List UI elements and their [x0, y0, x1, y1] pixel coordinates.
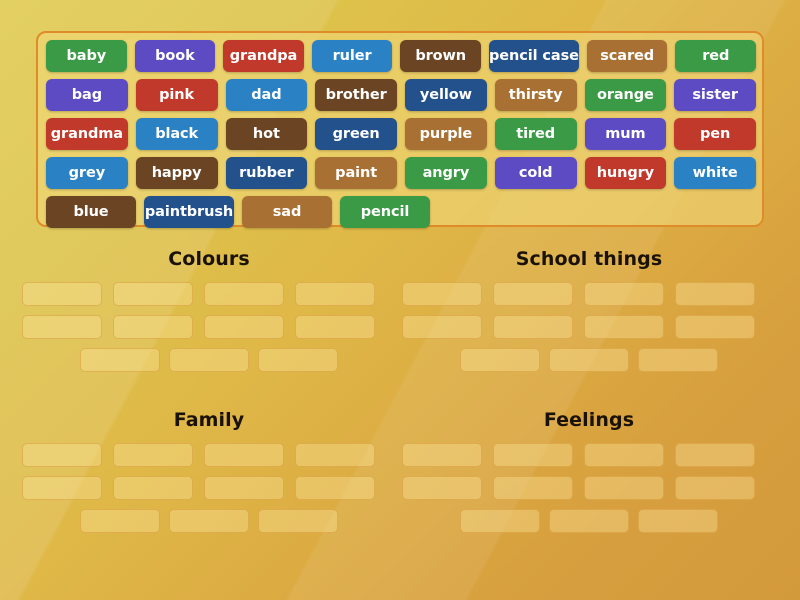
word-tile[interactable]: book [135, 40, 216, 72]
word-bank-row: grandmablackhotgreenpurpletiredmumpen [44, 118, 756, 150]
word-tile[interactable]: hungry [585, 157, 667, 189]
word-tile[interactable]: sister [674, 79, 756, 111]
word-tile[interactable]: paint [315, 157, 397, 189]
category-zone-colours: Colours [22, 248, 396, 372]
category-zone-family: Family [22, 409, 396, 533]
drop-slot-row [22, 282, 396, 306]
drop-slot[interactable] [169, 348, 249, 372]
word-tile[interactable]: brown [400, 40, 481, 72]
word-tile[interactable]: grandma [46, 118, 128, 150]
drop-slot-area-colours [22, 282, 396, 372]
drop-slot[interactable] [113, 476, 193, 500]
drop-slot[interactable] [258, 509, 338, 533]
drop-slot[interactable] [80, 509, 160, 533]
drop-slot[interactable] [295, 315, 375, 339]
drop-slot[interactable] [549, 509, 629, 533]
drop-slot[interactable] [80, 348, 160, 372]
drop-slot[interactable] [638, 509, 718, 533]
drop-slot-row [22, 476, 396, 500]
word-tile[interactable]: purple [405, 118, 487, 150]
drop-slot-row [22, 348, 396, 372]
category-title-feelings: Feelings [402, 409, 776, 431]
word-tile[interactable]: red [675, 40, 756, 72]
word-tile[interactable]: angry [405, 157, 487, 189]
drop-slot[interactable] [460, 509, 540, 533]
word-tile[interactable]: pencil [340, 196, 430, 228]
category-title-family: Family [22, 409, 396, 431]
drop-slot-row [402, 282, 776, 306]
drop-slot[interactable] [493, 315, 573, 339]
word-tile[interactable]: pen [674, 118, 756, 150]
drop-slot[interactable] [584, 476, 664, 500]
drop-slot[interactable] [402, 443, 482, 467]
drop-slot[interactable] [584, 315, 664, 339]
drop-slot-row [402, 348, 776, 372]
category-title-school-things: School things [402, 248, 776, 270]
drop-slot[interactable] [295, 282, 375, 306]
word-tile[interactable]: mum [585, 118, 667, 150]
drop-slot[interactable] [204, 282, 284, 306]
drop-slot[interactable] [22, 315, 102, 339]
drop-slot[interactable] [22, 443, 102, 467]
word-bank-row: babybookgrandparulerbrownpencil casescar… [44, 40, 756, 72]
drop-slot[interactable] [493, 282, 573, 306]
drop-slot-area-school-things [402, 282, 776, 372]
word-tile[interactable]: green [315, 118, 397, 150]
drop-slot[interactable] [402, 476, 482, 500]
drop-slot[interactable] [295, 443, 375, 467]
drop-slot[interactable] [493, 476, 573, 500]
drop-slot[interactable] [113, 315, 193, 339]
word-tile[interactable]: pencil case [489, 40, 579, 72]
drop-slot-row [22, 443, 396, 467]
drop-slot[interactable] [402, 282, 482, 306]
drop-slot[interactable] [204, 443, 284, 467]
word-tile[interactable]: black [136, 118, 218, 150]
word-tile[interactable]: tired [495, 118, 577, 150]
drop-slot-row [402, 315, 776, 339]
category-title-colours: Colours [22, 248, 396, 270]
drop-slot[interactable] [584, 282, 664, 306]
word-tile[interactable]: white [674, 157, 756, 189]
word-tile[interactable]: ruler [312, 40, 393, 72]
drop-slot[interactable] [295, 476, 375, 500]
drop-slot-area-feelings [402, 443, 776, 533]
drop-slot[interactable] [460, 348, 540, 372]
word-tile[interactable]: cold [495, 157, 577, 189]
word-tile[interactable]: happy [136, 157, 218, 189]
drop-slot[interactable] [402, 315, 482, 339]
word-bank-panel: babybookgrandparulerbrownpencil casescar… [36, 31, 764, 227]
word-tile[interactable]: scared [587, 40, 668, 72]
word-tile[interactable]: grandpa [223, 40, 304, 72]
category-zone-school-things: School things [402, 248, 776, 372]
word-tile[interactable]: hot [226, 118, 308, 150]
drop-slot-row [22, 315, 396, 339]
word-tile[interactable]: orange [585, 79, 667, 111]
drop-slot[interactable] [493, 443, 573, 467]
category-zone-feelings: Feelings [402, 409, 776, 533]
drop-slot-row [402, 443, 776, 467]
drop-slot[interactable] [258, 348, 338, 372]
drop-slot[interactable] [113, 443, 193, 467]
drop-slot-area-family [22, 443, 396, 533]
drop-slot[interactable] [113, 282, 193, 306]
drop-slot-row [22, 509, 396, 533]
word-tile[interactable]: blue [46, 196, 136, 228]
drop-slot[interactable] [204, 476, 284, 500]
drop-slot[interactable] [675, 476, 755, 500]
drop-slot[interactable] [675, 443, 755, 467]
drop-slot[interactable] [549, 348, 629, 372]
word-bank-row: bluepaintbrushsadpencil [44, 196, 756, 228]
drop-slot[interactable] [169, 509, 249, 533]
drop-slot[interactable] [675, 315, 755, 339]
drop-slot[interactable] [204, 315, 284, 339]
word-tile[interactable]: brother [315, 79, 397, 111]
word-tile[interactable]: yellow [405, 79, 487, 111]
drop-slot[interactable] [22, 476, 102, 500]
word-tile[interactable]: thirsty [495, 79, 577, 111]
drop-slot-row [402, 476, 776, 500]
word-tile[interactable]: grey [46, 157, 128, 189]
drop-slot[interactable] [638, 348, 718, 372]
word-tile[interactable]: dad [226, 79, 308, 111]
word-tile[interactable]: paintbrush [144, 196, 234, 228]
drop-slot[interactable] [675, 282, 755, 306]
word-tile[interactable]: pink [136, 79, 218, 111]
word-tile[interactable]: rubber [226, 157, 308, 189]
word-bank-row: greyhappyrubberpaintangrycoldhungrywhite [44, 157, 756, 189]
drop-slot[interactable] [584, 443, 664, 467]
drop-slot[interactable] [22, 282, 102, 306]
word-bank-row: bagpinkdadbrotheryellowthirstyorangesist… [44, 79, 756, 111]
drop-slot-row [402, 509, 776, 533]
word-tile[interactable]: sad [242, 196, 332, 228]
word-tile[interactable]: bag [46, 79, 128, 111]
word-tile[interactable]: baby [46, 40, 127, 72]
